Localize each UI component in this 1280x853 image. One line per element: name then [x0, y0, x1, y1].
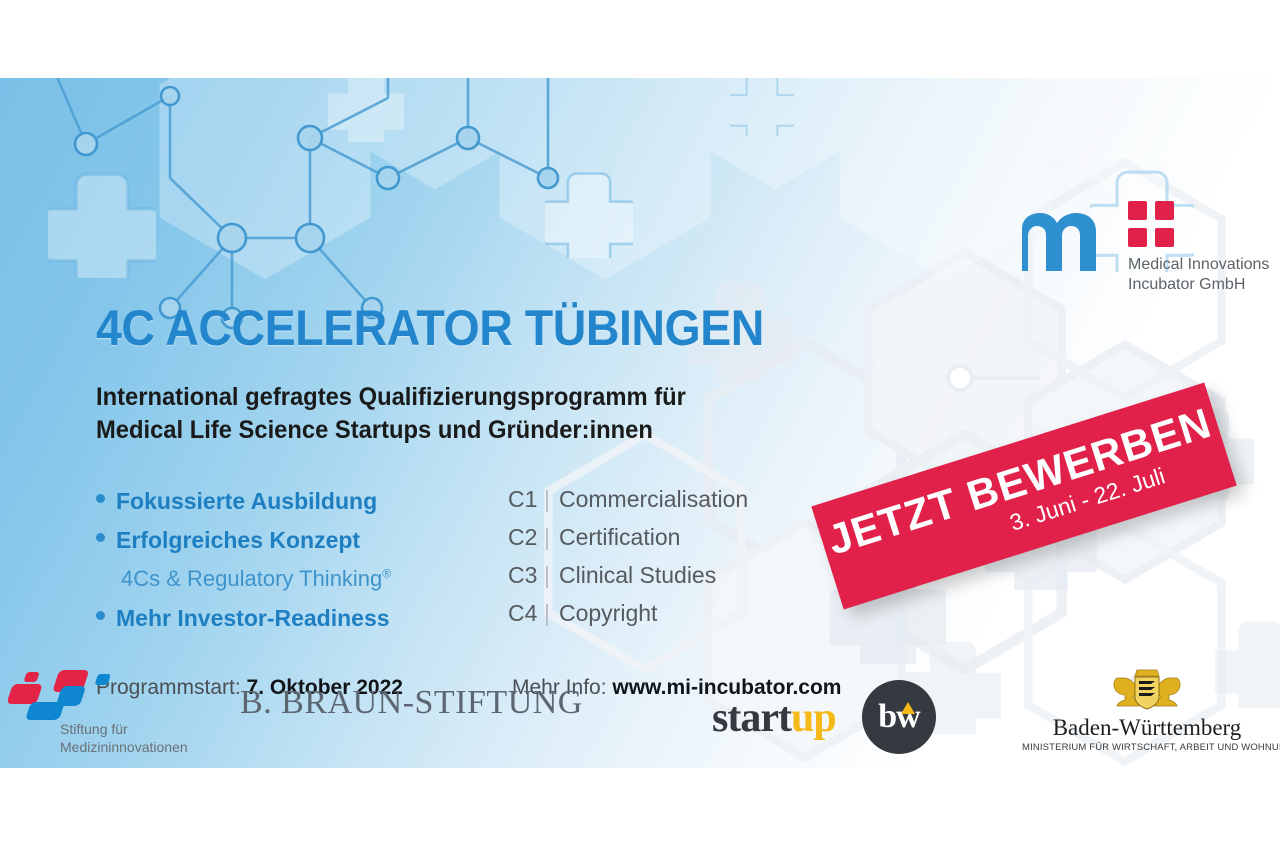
benefits-list: Fokussierte Ausbildung Erfolgreiches Kon… [96, 488, 496, 644]
list-item: C4 | Copyright [508, 600, 748, 638]
bullet-dot-icon [96, 494, 105, 503]
list-item: Mehr Investor-Readiness [96, 605, 496, 644]
list-item: C3 | Clinical Studies [508, 562, 748, 600]
mi-dots-icon [1128, 201, 1176, 249]
bw-coat-of-arms-icon [1109, 664, 1185, 710]
stiftung-logo-line-2: Medizininnovationen [60, 738, 188, 756]
startup-word-up: up [791, 695, 836, 741]
stiftung-logo-line-1: Stiftung für [60, 720, 188, 738]
curriculum-list: C1 | Commercialisation C2 | Certificatio… [508, 486, 748, 638]
page-title: 4C ACCELERATOR TÜBINGEN [96, 300, 764, 356]
ribbon-body[interactable]: JETZT BEWERBEN 3. Juni - 22. Juli [811, 383, 1236, 610]
curriculum-separator: | [542, 524, 559, 551]
curriculum-key: C1 [508, 486, 542, 513]
benefit-label: Mehr Investor-Readiness [116, 605, 390, 632]
startup-bw-badge: bw [862, 680, 936, 754]
benefit-subnote-text: 4Cs & Regulatory Thinking [121, 566, 382, 591]
mi-logo-text: Medical Innovations Incubator GmbH [1128, 255, 1269, 295]
b-braun-stiftung-logo: B. BRAUN-STIFTUNG [240, 684, 583, 722]
list-item: C1 | Commercialisation [508, 486, 748, 524]
curriculum-label: Copyright [559, 600, 657, 627]
list-item: Fokussierte Ausbildung [96, 488, 496, 527]
list-item: C2 | Certification [508, 524, 748, 562]
bullet-dot-icon [96, 611, 105, 620]
mi-m-letter-icon [1018, 211, 1110, 273]
apply-now-ribbon[interactable]: JETZT BEWERBEN 3. Juni - 22. Juli [818, 358, 1248, 608]
baden-wuerttemberg-logo: Baden-Württemberg MINISTERIUM FÜR WIRTSC… [1022, 662, 1272, 772]
curriculum-label: Certification [559, 524, 680, 551]
startup-word-start: start [712, 695, 791, 741]
curriculum-label: Commercialisation [559, 486, 748, 513]
promotional-banner: 4C ACCELERATOR TÜBINGEN International ge… [0, 0, 1280, 853]
subtitle-line-1: International gefragtes Qualifizierungsp… [96, 381, 686, 414]
curriculum-separator: | [542, 486, 559, 513]
benefit-label: Erfolgreiches Konzept [116, 527, 360, 554]
partner-logos: Stiftung für Medizininnovationen B. BRAU… [0, 660, 1280, 780]
stiftung-medizininnovationen-logo: Stiftung für Medizininnovationen [8, 668, 208, 768]
bullet-dot-icon [96, 533, 105, 542]
mi-logo-line-2: Incubator GmbH [1128, 275, 1269, 295]
subtitle-line-2: Medical Life Science Startups und Gründe… [96, 414, 686, 447]
startup-wordmark: startup [712, 694, 836, 742]
stiftung-cross-icon [8, 668, 128, 726]
stiftung-logo-text: Stiftung für Medizininnovationen [60, 720, 188, 756]
list-item: Erfolgreiches Konzept [96, 527, 496, 566]
curriculum-separator: | [542, 600, 559, 627]
benefit-subnote: 4Cs & Regulatory Thinking® [96, 566, 496, 605]
subtitle: International gefragtes Qualifizierungsp… [96, 381, 686, 447]
mi-incubator-logo: Medical Innovations Incubator GmbH [1018, 193, 1258, 297]
bw-logo-title: Baden-Württemberg [1022, 715, 1272, 741]
benefit-label: Fokussierte Ausbildung [116, 488, 377, 515]
curriculum-key: C4 [508, 600, 542, 627]
registered-mark-icon: ® [382, 567, 391, 581]
bw-logo-subtitle: MINISTERIUM FÜR WIRTSCHAFT, ARBEIT UND W… [1022, 741, 1272, 755]
curriculum-key: C2 [508, 524, 542, 551]
startup-bw-logo: startup bw [712, 678, 942, 756]
curriculum-label: Clinical Studies [559, 562, 716, 589]
curriculum-separator: | [542, 562, 559, 589]
mi-logo-line-1: Medical Innovations [1128, 255, 1269, 275]
curriculum-key: C3 [508, 562, 542, 589]
startup-arrow-icon [862, 680, 936, 754]
